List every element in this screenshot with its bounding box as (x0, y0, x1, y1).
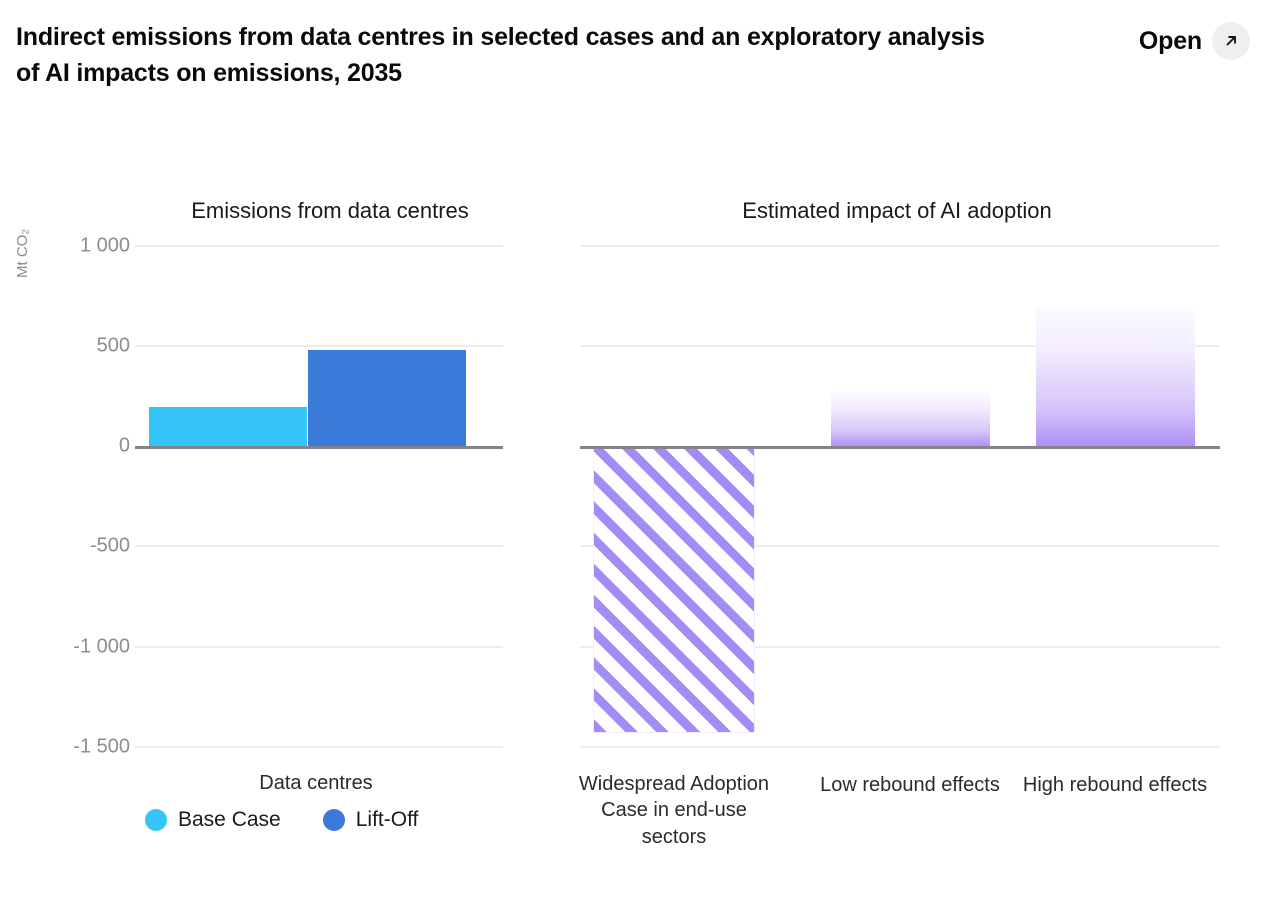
y-tick-label: 1 000 (30, 235, 130, 258)
gridline (580, 245, 1220, 247)
bar-base-case[interactable] (149, 407, 307, 447)
y-tick-label: 500 (30, 335, 130, 358)
bar-low-rebound-effects[interactable] (831, 391, 990, 447)
y-tick-label: -1 000 (30, 636, 130, 659)
y-tick-label: 0 (30, 435, 130, 458)
legend-label: Lift-Off (356, 808, 419, 832)
zero-line-left (135, 446, 503, 449)
bar-lift-off[interactable] (308, 350, 466, 447)
bar-high-rebound-effects[interactable] (1036, 308, 1195, 447)
gridline (135, 746, 503, 748)
gridline (580, 746, 1220, 748)
legend: Base Case Lift-Off (145, 808, 418, 832)
y-axis-ticks: 1 000 500 0 -500 -1 000 -1 500 (20, 0, 130, 922)
chart-area: Mt CO₂ 1 000 500 0 -500 -1 000 -1 500 Em… (0, 0, 1266, 922)
x-label-low-rebound: Low rebound effects (815, 772, 1005, 798)
legend-swatch-icon (145, 809, 167, 831)
x-label-data-centres: Data centres (166, 770, 466, 796)
zero-line-right (580, 446, 1220, 449)
legend-swatch-icon (323, 809, 345, 831)
bar-widespread-adoption-case[interactable] (593, 447, 755, 733)
x-label-high-rebound: High rebound effects (1020, 772, 1210, 798)
legend-item-base-case[interactable]: Base Case (145, 808, 281, 832)
x-label-widespread-adoption: Widespread Adoption Case in end-use sect… (574, 771, 774, 850)
gridline (135, 345, 503, 347)
panel-title-right: Estimated impact of AI adoption (742, 198, 1051, 224)
gridline (135, 545, 503, 547)
gridline (135, 245, 503, 247)
legend-label: Base Case (178, 808, 281, 832)
chart-page: Indirect emissions from data centres in … (0, 0, 1266, 922)
legend-item-lift-off[interactable]: Lift-Off (323, 808, 419, 832)
y-tick-label: -500 (30, 535, 130, 558)
y-tick-label: -1 500 (30, 736, 130, 759)
gridline (135, 646, 503, 648)
panel-title-left: Emissions from data centres (191, 198, 469, 224)
